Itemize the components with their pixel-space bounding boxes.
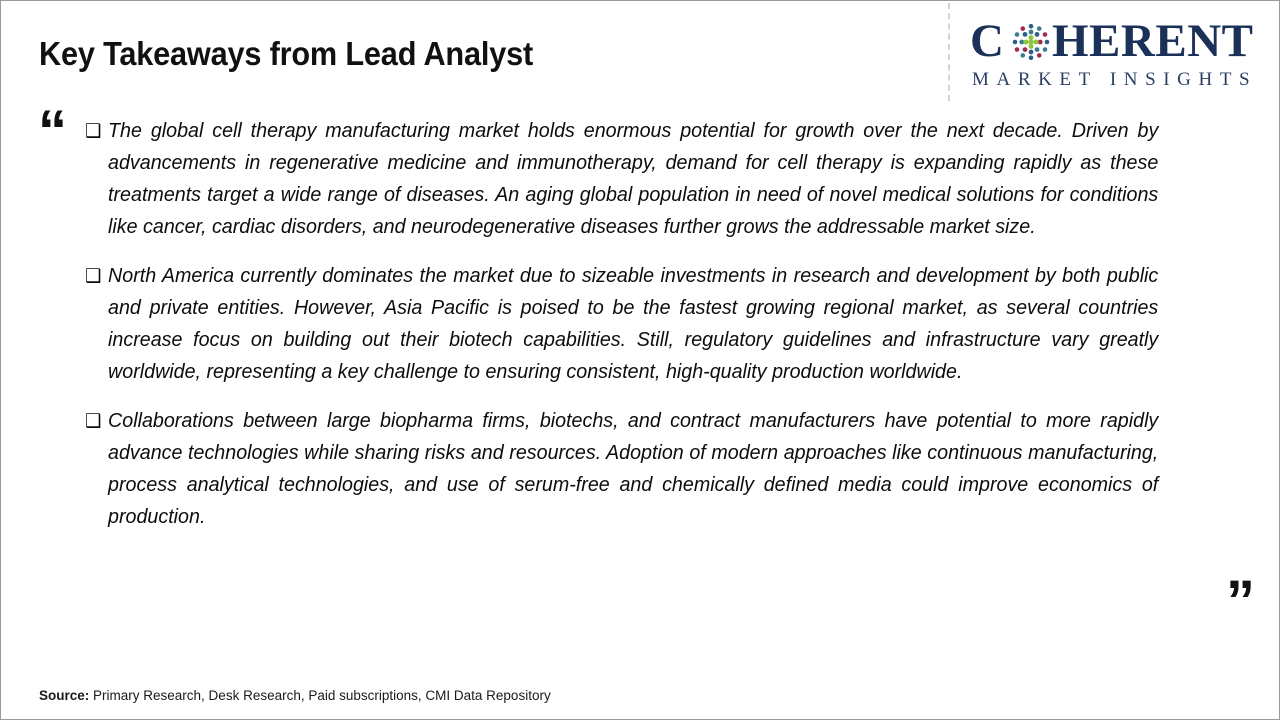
list-item-text: North America currently dominates the ma… (108, 260, 1158, 388)
header-dashed-divider (948, 3, 950, 101)
source-value: Primary Research, Desk Research, Paid su… (93, 688, 551, 703)
list-item-text: Collaborations between large biopharma f… (108, 405, 1158, 533)
coherent-market-insights-logo: C (966, 15, 1266, 97)
opening-quote-icon: “ (38, 103, 67, 161)
logo-letters-herent: HERENT (1052, 15, 1254, 67)
bullet-square-icon: ❑ (85, 260, 101, 292)
takeaways-list: ❑ The global cell therapy manufacturing … (85, 115, 1203, 533)
source-label: Source: (39, 688, 89, 703)
logo-letter-c: C (970, 15, 1004, 67)
list-item-text: The global cell therapy manufacturing ma… (108, 115, 1158, 243)
bullet-square-icon: ❑ (85, 405, 101, 437)
closing-quote-icon: ” (1226, 573, 1255, 631)
logo-subtitle: MARKET INSIGHTS (972, 69, 1257, 91)
list-item: ❑ The global cell therapy manufacturing … (85, 115, 1158, 243)
logo-wordmark: C (966, 15, 1266, 67)
list-item: ❑ North America currently dominates the … (85, 260, 1158, 388)
bullet-square-icon: ❑ (85, 115, 101, 147)
slide-header: Key Takeaways from Lead Analyst C (1, 1, 1279, 101)
dotted-globe-icon (1012, 23, 1050, 61)
page-title: Key Takeaways from Lead Analyst (39, 35, 533, 73)
slide: Key Takeaways from Lead Analyst C (0, 0, 1280, 720)
source-footer: Source: Primary Research, Desk Research,… (39, 688, 551, 703)
slide-body: “ ❑ The global cell therapy manufacturin… (1, 101, 1279, 666)
list-item: ❑ Collaborations between large biopharma… (85, 405, 1158, 533)
